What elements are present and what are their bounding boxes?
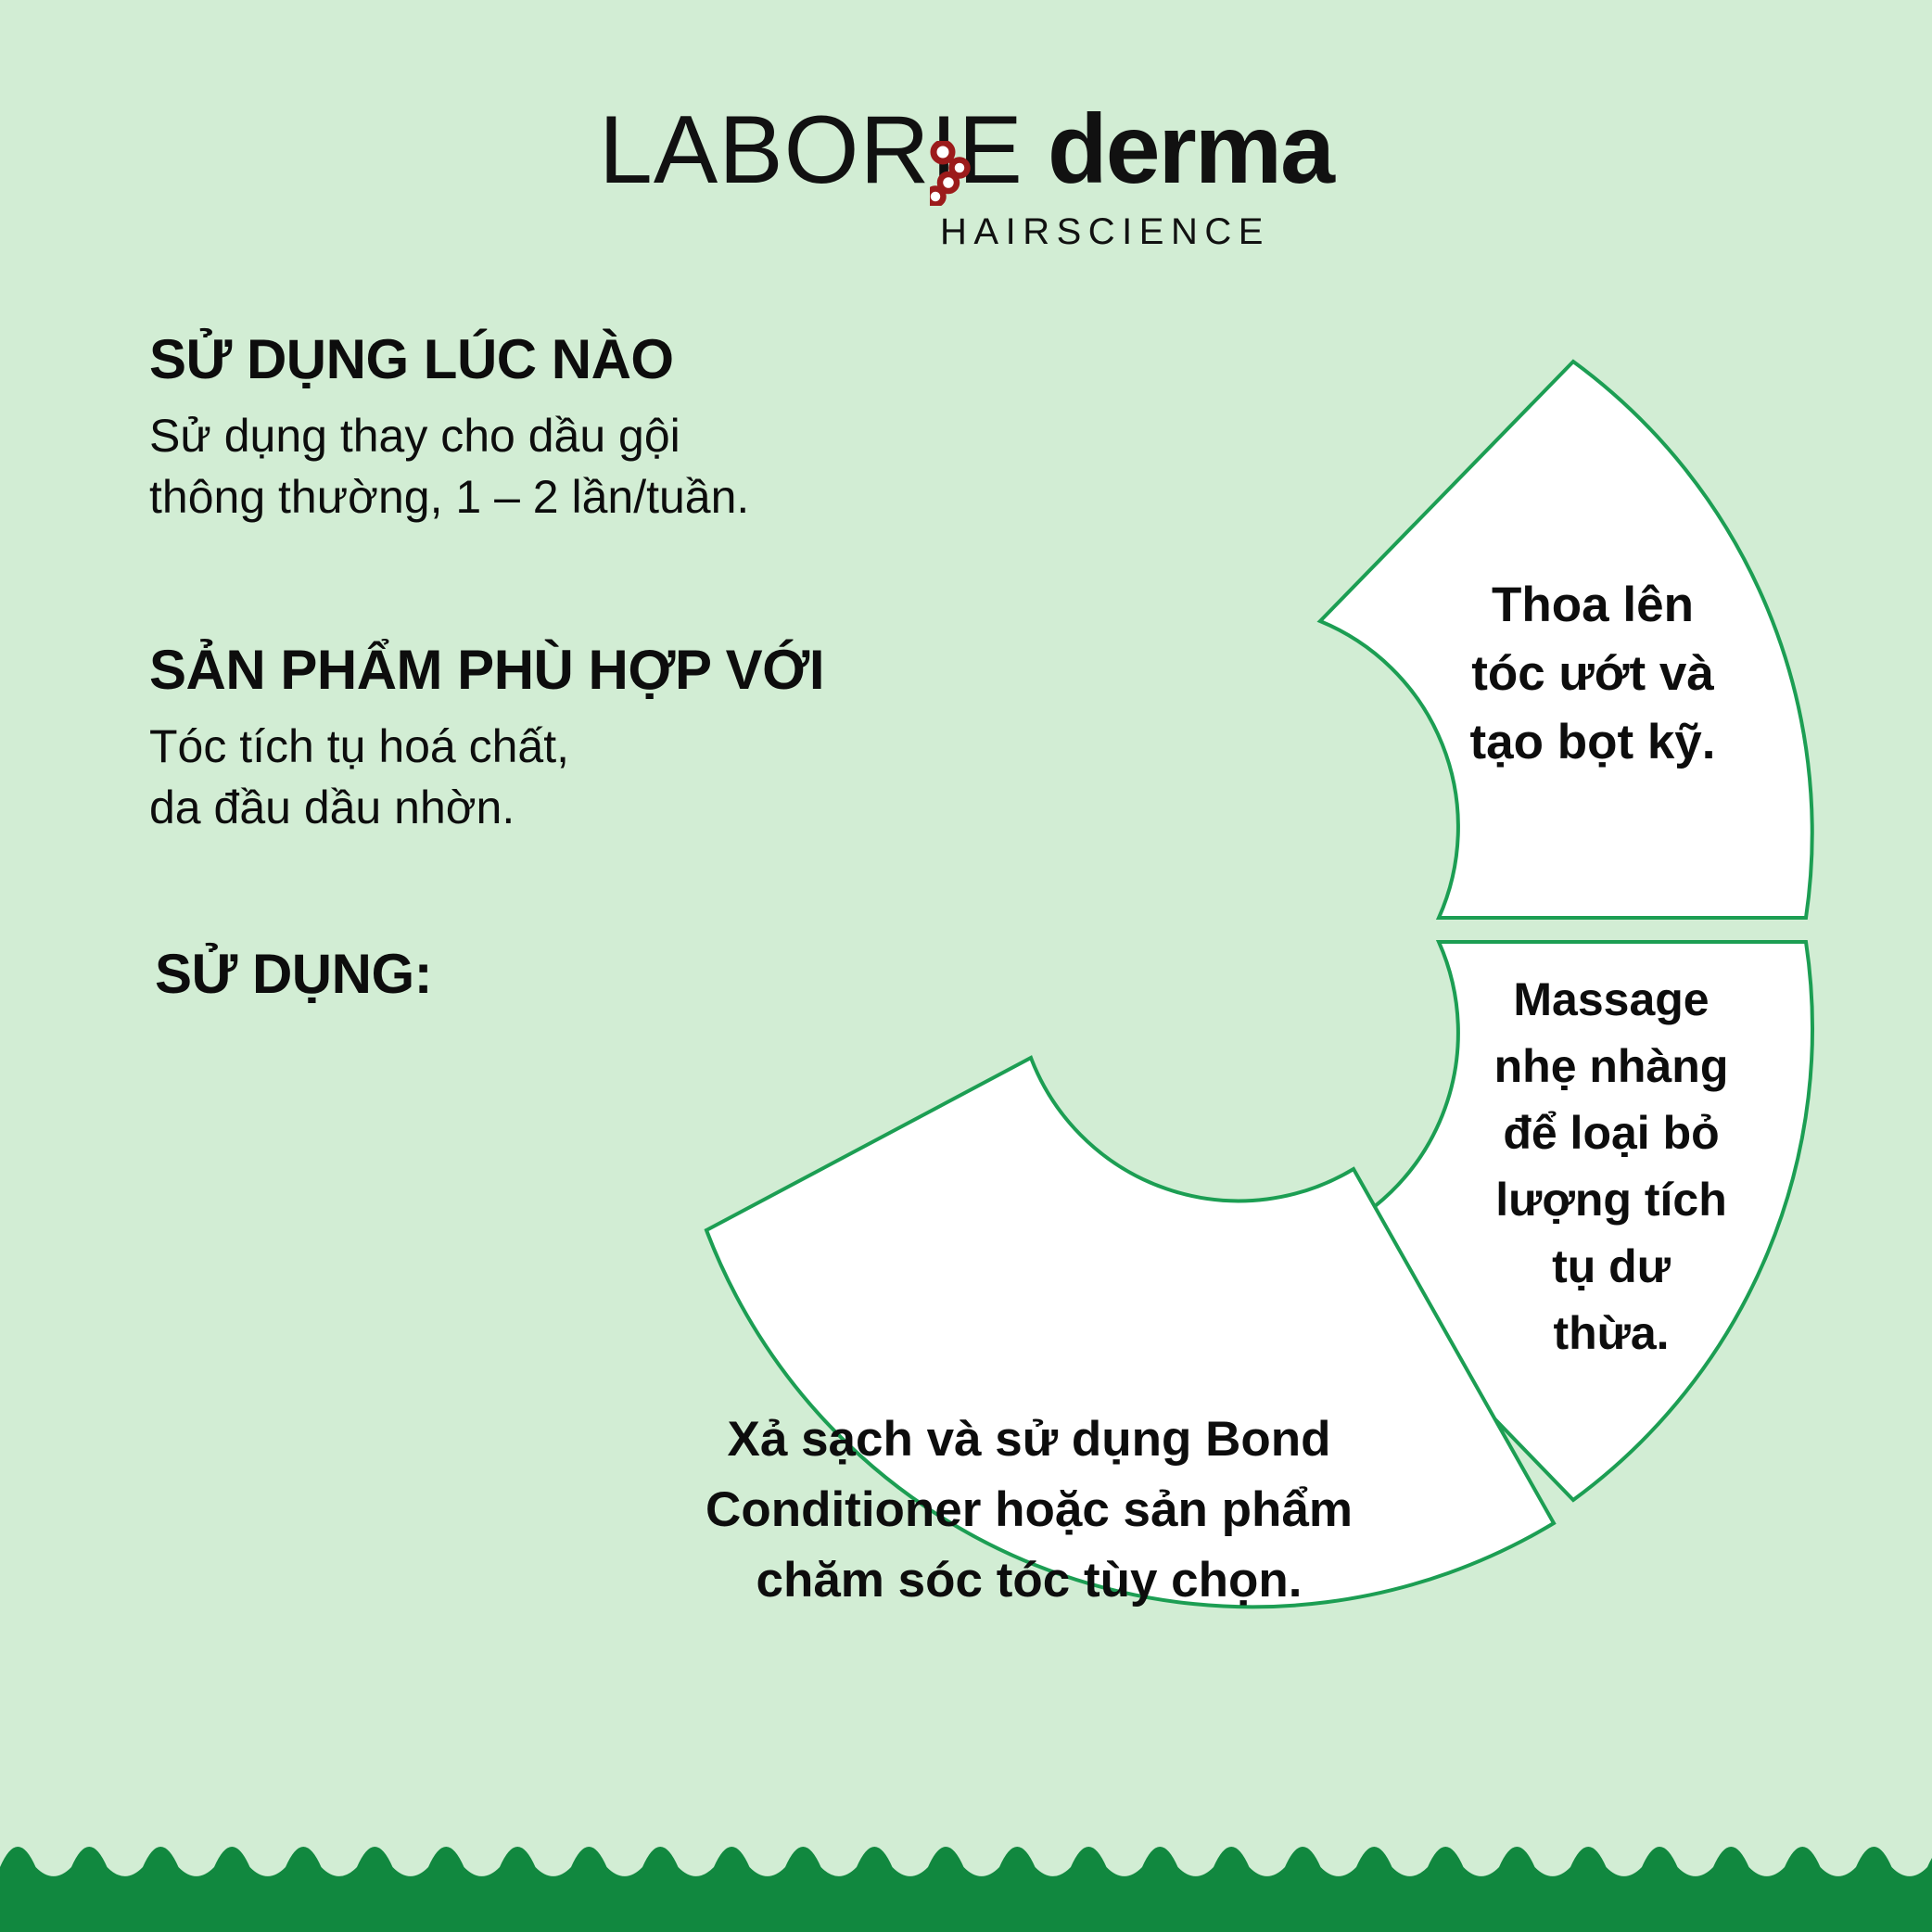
step-2-line-4: lượng tích bbox=[1495, 1174, 1727, 1226]
step-2-line-1: Massage bbox=[1513, 973, 1709, 1025]
section-when: SỬ DỤNG LÚC NÀO Sử dụng thay cho dầu gội… bbox=[149, 329, 749, 527]
step-1-line-1: Thoa lên bbox=[1492, 578, 1694, 632]
step-1-arc: Thoa lên tóc ướt và tạo bọt kỹ. bbox=[1320, 362, 1812, 918]
logo-tagline: HAIRSCIENCE bbox=[0, 213, 1932, 250]
section-suitable-body-line-1: Tóc tích tụ hoá chất, bbox=[149, 720, 569, 772]
step-1-line-3: tạo bọt kỹ. bbox=[1469, 715, 1715, 769]
step-2-arc: Massage nhẹ nhàng để loại bỏ lượng tích … bbox=[1320, 942, 1812, 1500]
logo-brand-derma: derma bbox=[1048, 100, 1333, 198]
step-3-line-3: chăm sóc tóc tùy chọn. bbox=[756, 1553, 1302, 1608]
brand-logo: LABORIE derma HAIRSCIENCE bbox=[0, 100, 1932, 250]
step-3-line-2: Conditioner hoặc sản phẩm bbox=[705, 1482, 1353, 1537]
section-when-body-line-1: Sử dụng thay cho dầu gội bbox=[149, 410, 680, 462]
step-1-line-2: tóc ướt và bbox=[1471, 646, 1714, 701]
step-2-line-5: tụ dư bbox=[1552, 1240, 1671, 1292]
section-suitable: SẢN PHẨM PHÙ HỢP VỚI Tóc tích tụ hoá chấ… bbox=[149, 640, 824, 838]
step-3-arc: Xả sạch và sử dụng Bond Conditioner hoặc… bbox=[705, 1058, 1554, 1608]
section-when-heading: SỬ DỤNG LÚC NÀO bbox=[149, 329, 749, 390]
section-suitable-body: Tóc tích tụ hoá chất, da đầu dầu nhờn. bbox=[149, 716, 824, 838]
section-howto: SỬ DỤNG: bbox=[149, 944, 432, 1005]
section-suitable-heading: SẢN PHẨM PHÙ HỢP VỚI bbox=[149, 640, 824, 701]
logo-wordmark: LABORIE derma bbox=[599, 100, 1333, 198]
section-when-body: Sử dụng thay cho dầu gội thông thường, 1… bbox=[149, 405, 749, 527]
section-when-body-line-2: thông thường, 1 – 2 lần/tuần. bbox=[149, 471, 749, 523]
step-2-line-6: thừa. bbox=[1553, 1307, 1669, 1359]
molecule-chain-icon bbox=[930, 141, 985, 206]
section-howto-heading: SỬ DỤNG: bbox=[149, 944, 432, 1005]
section-suitable-body-line-2: da đầu dầu nhờn. bbox=[149, 782, 515, 833]
step-3-line-1: Xả sạch và sử dụng Bond bbox=[728, 1412, 1331, 1467]
scalloped-wave-footer bbox=[0, 1830, 1932, 1932]
step-2-line-2: nhẹ nhàng bbox=[1494, 1040, 1729, 1092]
step-2-line-3: để loại bỏ bbox=[1503, 1107, 1719, 1159]
poster-canvas: LABORIE derma HAIRSCIENCE SỬ DỤNG LÚC NÀ… bbox=[0, 0, 1932, 1932]
